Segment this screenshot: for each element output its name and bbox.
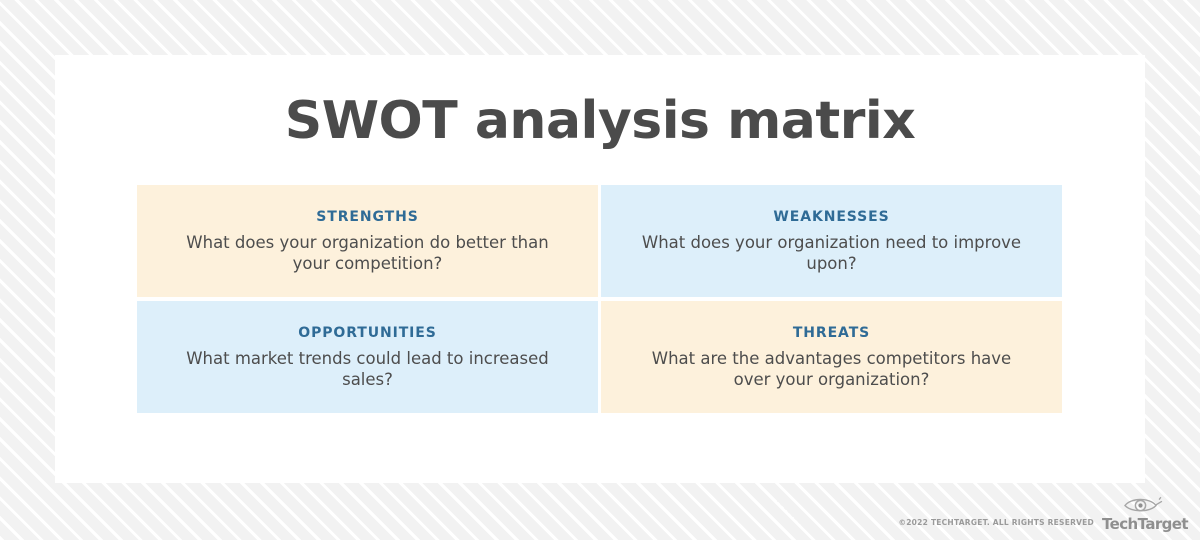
swot-quadrant-strengths: STRENGTHS What does your organization do… — [137, 185, 598, 297]
techtarget-wordmark: TechTarget — [1102, 516, 1188, 532]
content-card: SWOT analysis matrix STRENGTHS What does… — [55, 55, 1145, 483]
quadrant-body-weaknesses: What does your organization need to impr… — [642, 232, 1022, 274]
quadrant-title-threats: THREATS — [793, 324, 870, 342]
swot-matrix: STRENGTHS What does your organization do… — [137, 185, 1062, 414]
copyright-text: ©2022 TECHTARGET. ALL RIGHTS RESERVED — [898, 518, 1094, 532]
swot-quadrant-weaknesses: WEAKNESSES What does your organization n… — [601, 185, 1062, 297]
footer: ©2022 TECHTARGET. ALL RIGHTS RESERVED Te… — [898, 494, 1188, 532]
quadrant-title-opportunities: OPPORTUNITIES — [298, 324, 436, 342]
quadrant-body-threats: What are the advantages competitors have… — [642, 348, 1022, 390]
quadrant-body-strengths: What does your organization do better th… — [178, 232, 558, 274]
quadrant-body-opportunities: What market trends could lead to increas… — [178, 348, 558, 390]
page-title: SWOT analysis matrix — [55, 91, 1145, 151]
eye-icon — [1122, 494, 1168, 517]
quadrant-title-strengths: STRENGTHS — [316, 208, 418, 226]
slide-canvas: SWOT analysis matrix STRENGTHS What does… — [0, 0, 1200, 540]
techtarget-logo: TechTarget — [1102, 494, 1188, 532]
swot-quadrant-threats: THREATS What are the advantages competit… — [601, 301, 1062, 413]
swot-quadrant-opportunities: OPPORTUNITIES What market trends could l… — [137, 301, 598, 413]
quadrant-title-weaknesses: WEAKNESSES — [773, 208, 889, 226]
